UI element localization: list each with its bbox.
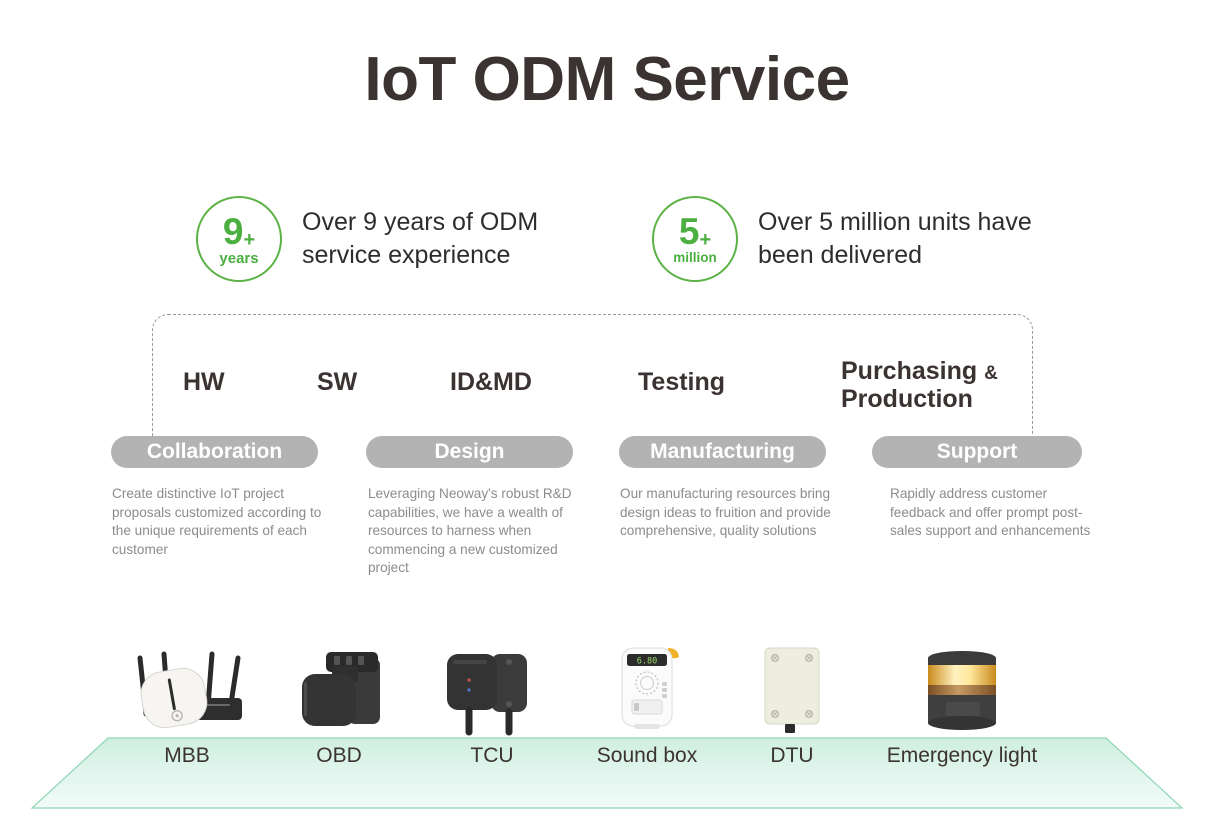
product-item-sound-box: 6.80 Sound box <box>572 636 722 768</box>
stage-pill-collaboration[interactable]: Collaboration <box>111 436 318 468</box>
stat-description: Over 9 years of ODM service experience <box>302 206 602 272</box>
product-art <box>264 636 414 736</box>
product-art <box>886 636 1038 736</box>
infographic-canvas: IoT ODM Service 9 + years Over 9 years o… <box>0 0 1214 835</box>
router-icon <box>112 636 262 736</box>
phase-header-hw: HW <box>183 368 225 397</box>
phase-header-idmd: ID&MD <box>450 368 532 397</box>
stage-description-collaboration: Create distinctive IoT project proposals… <box>112 485 337 559</box>
stage-description-manufacturing: Our manufacturing resources bring design… <box>620 485 845 541</box>
stage-description-design: Leveraging Neoway's robust R&D capabilit… <box>368 485 593 578</box>
product-item-emergency-light: Emergency light <box>886 636 1038 768</box>
stat-block-units: 5 + million Over 5 million units have be… <box>652 196 1058 282</box>
phase-header-ampersand: & <box>984 363 998 384</box>
beacon-light-icon <box>886 636 1038 736</box>
product-label: TCU <box>417 744 567 768</box>
phase-header-purchasing-production: Purchasing & Production <box>841 357 998 413</box>
product-art: 6.80 <box>572 636 722 736</box>
product-label: OBD <box>264 744 414 768</box>
stat-plus-sign: + <box>243 230 255 250</box>
stat-circle-icon: 9 + years <box>196 196 282 282</box>
stat-unit: years <box>219 251 258 266</box>
product-label: Emergency light <box>886 744 1038 768</box>
stage-pill-design[interactable]: Design <box>366 436 573 468</box>
svg-text:6.80: 6.80 <box>637 657 657 667</box>
phase-header-line1: Purchasing <box>841 357 977 385</box>
stage-description-support: Rapidly address customer feedback and of… <box>890 485 1095 541</box>
stat-description: Over 5 million units have been delivered <box>758 206 1058 272</box>
product-item-tcu: TCU <box>417 636 567 768</box>
stat-number: 9 <box>223 213 243 250</box>
product-label: MBB <box>112 744 262 768</box>
obd-dongle-icon <box>264 636 414 736</box>
product-label: DTU <box>717 744 867 768</box>
phase-header-sw: SW <box>317 368 357 397</box>
stage-pill-manufacturing[interactable]: Manufacturing <box>619 436 826 468</box>
product-art <box>417 636 567 736</box>
phase-header-line2: Production <box>841 385 973 413</box>
product-item-obd: OBD <box>264 636 414 768</box>
stat-circle-icon: 5 + million <box>652 196 738 282</box>
product-art <box>717 636 867 736</box>
stat-unit: million <box>673 251 717 265</box>
stat-block-years: 9 + years Over 9 years of ODM service ex… <box>196 196 602 282</box>
product-item-mbb: MBB <box>112 636 262 768</box>
stat-number-group: 5 + <box>679 213 711 250</box>
tcu-module-icon <box>417 636 567 736</box>
product-label: Sound box <box>572 744 722 768</box>
product-item-dtu: DTU <box>717 636 867 768</box>
stat-number: 5 <box>679 213 699 250</box>
phase-header-testing: Testing <box>638 368 725 397</box>
stage-pill-support[interactable]: Support <box>872 436 1082 468</box>
stat-number-group: 9 + <box>223 213 255 250</box>
sound-box-icon: 6.80 <box>572 636 722 736</box>
page-title: IoT ODM Service <box>0 44 1214 115</box>
dtu-enclosure-icon <box>717 636 867 736</box>
stat-plus-sign: + <box>699 230 711 250</box>
product-art <box>112 636 262 736</box>
